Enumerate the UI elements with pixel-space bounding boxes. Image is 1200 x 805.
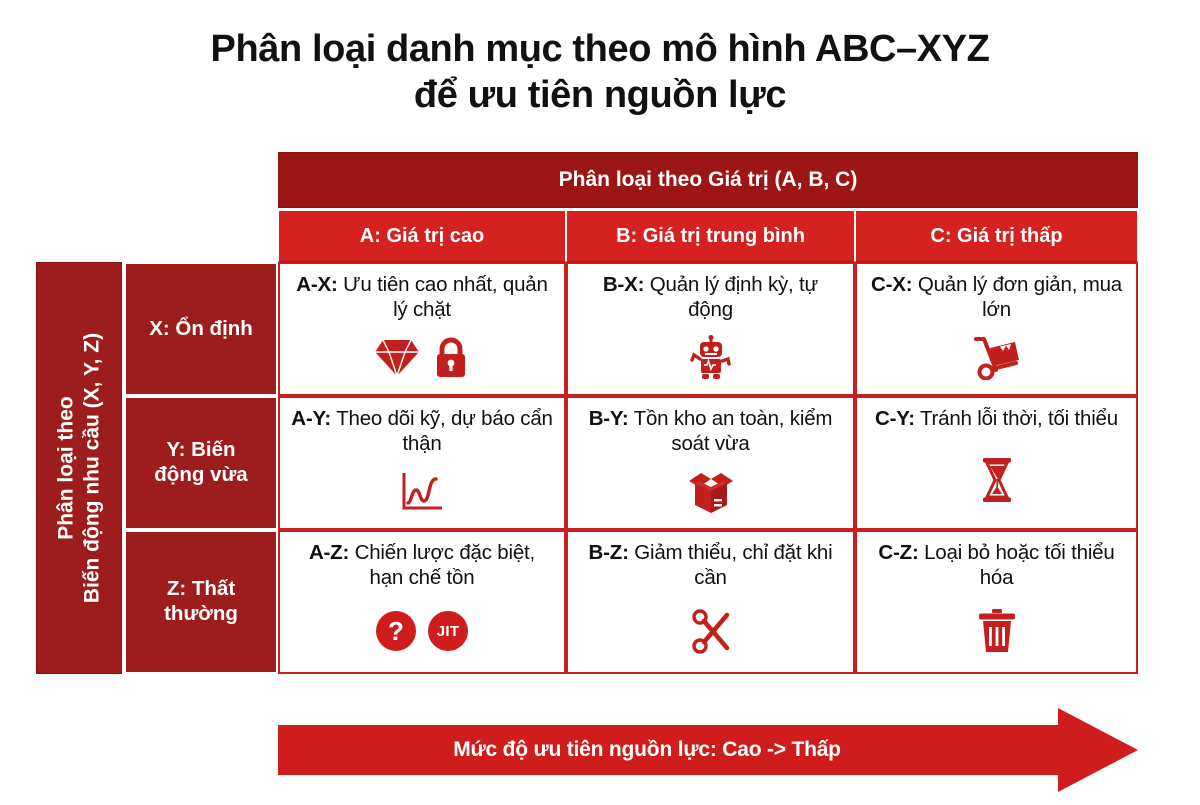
priority-arrow-head [1058, 708, 1138, 792]
cell-a-y[interactable]: A-Y: Theo dõi kỹ, dự báo cẩn thận [278, 396, 566, 530]
cell-c-z-code: C-Z: [878, 541, 918, 564]
demand-axis-label-line-2: Biến động nhu cầu (X, Y, Z) [79, 262, 105, 674]
cell-a-z-icons: ? JIT [376, 596, 468, 666]
cell-c-y-desc: Tránh lỗi thời, tối thiểu [915, 407, 1118, 430]
page-title-line-2: để ưu tiên nguồn lực [0, 72, 1200, 118]
cell-a-y-code: A-Y: [291, 407, 331, 430]
matrix-row-y: A-Y: Theo dõi kỹ, dự báo cẩn thận B-Y: T… [278, 396, 1138, 530]
lock-icon [432, 337, 470, 379]
cell-a-x-text: A-X: Ưu tiên cao nhất, quản lý chặt [290, 272, 554, 322]
row-header-x: X: Ổn định [124, 262, 278, 396]
cell-c-x-desc: Quản lý đơn giản, mua lớn [912, 273, 1122, 321]
cell-b-y-code: B-Y: [589, 407, 629, 430]
column-header-b-label: B: Giá trị trung bình [616, 225, 805, 248]
cell-a-y-icons [397, 462, 447, 522]
row-header-column: X: Ổn định Y: Biến động vừa Z: Thất thườ… [124, 262, 278, 674]
cell-a-z-text: A-Z: Chiến lược đặc biệt, hạn chế tồn [290, 540, 554, 590]
cell-c-y-code: C-Y: [875, 407, 915, 430]
cell-a-z-desc: Chiến lược đặc biệt, hạn chế tồn [349, 541, 535, 589]
cell-c-x-text: C-X: Quản lý đơn giản, mua lớn [867, 272, 1126, 322]
hand-truck-icon [970, 336, 1024, 380]
page-title: Phân loại danh mục theo mô hình ABC–XYZ … [0, 26, 1200, 119]
value-axis-header: Phân loại theo Giá trị (A, B, C) [278, 152, 1138, 208]
robot-icon [688, 335, 734, 381]
cell-c-z-text: C-Z: Loại bỏ hoặc tối thiểu hóa [867, 540, 1126, 590]
cell-b-y[interactable]: B-Y: Tồn kho an toàn, kiểm soát vừa [566, 396, 855, 530]
infographic-canvas: Phân loại danh mục theo mô hình ABC–XYZ … [0, 0, 1200, 805]
cell-a-z[interactable]: A-Z: Chiến lược đặc biệt, hạn chế tồn ? … [278, 530, 566, 674]
row-header-z-label: Z: Thất thường [164, 577, 238, 626]
page-title-line-1: Phân loại danh mục theo mô hình ABC–XYZ [0, 26, 1200, 72]
cell-b-y-desc: Tồn kho an toàn, kiểm soát vừa [629, 407, 833, 455]
column-header-a-label: A: Giá trị cao [360, 225, 484, 248]
cell-b-x-text: B-X: Quản lý định kỳ, tự động [578, 272, 843, 322]
cell-a-x[interactable]: A-X: Ưu tiên cao nhất, quản lý chặt [278, 262, 566, 396]
priority-arrow: Mức độ ưu tiên nguồn lực: Cao -> Thấp [278, 708, 1138, 792]
matrix-row-x: A-X: Ưu tiên cao nhất, quản lý chặt B-X:… [278, 262, 1138, 396]
cell-a-x-icons [374, 328, 470, 388]
cell-b-y-text: B-Y: Tồn kho an toàn, kiểm soát vừa [578, 406, 843, 456]
cell-a-x-desc: Ưu tiên cao nhất, quản lý chặt [338, 273, 548, 321]
matrix-row-z: A-Z: Chiến lược đặc biệt, hạn chế tồn ? … [278, 530, 1138, 674]
box-icon [685, 469, 737, 515]
question-badge: ? [376, 611, 416, 651]
cell-b-x[interactable]: B-X: Quản lý định kỳ, tự động [566, 262, 855, 396]
cell-a-z-code: A-Z: [309, 541, 349, 564]
line-chart-icon [397, 470, 447, 514]
cell-b-y-icons [685, 462, 737, 522]
row-header-y-line-2: động vừa [154, 463, 247, 486]
row-header-z-line-1: Z: Thất [167, 577, 235, 600]
value-axis-header-label: Phân loại theo Giá trị (A, B, C) [559, 168, 858, 192]
cell-b-x-desc: Quản lý định kỳ, tự động [644, 273, 818, 321]
cell-c-z-icons [976, 596, 1018, 666]
cell-c-y[interactable]: C-Y: Tránh lỗi thời, tối thiểu [855, 396, 1138, 530]
demand-axis-label-line-1: Phân loại theo [53, 262, 79, 674]
row-header-y-label: Y: Biến động vừa [154, 438, 247, 487]
cell-b-x-code: B-X: [603, 273, 644, 296]
cell-b-z-code: B-Z: [589, 541, 629, 564]
cell-c-y-text: C-Y: Tránh lỗi thời, tối thiểu [875, 406, 1118, 431]
priority-arrow-label: Mức độ ưu tiên nguồn lực: Cao -> Thấp [453, 738, 841, 762]
row-header-x-label: X: Ổn định [149, 317, 253, 342]
matrix-body: A-X: Ưu tiên cao nhất, quản lý chặt B-X:… [278, 262, 1138, 674]
cell-a-x-code: A-X: [296, 273, 337, 296]
column-header-c-label: C: Giá trị thấp [930, 225, 1062, 248]
row-header-z: Z: Thất thường [124, 530, 278, 674]
cell-b-z[interactable]: B-Z: Giảm thiểu, chỉ đặt khi cần [566, 530, 855, 674]
demand-axis-band: Phân loại theo Biến động nhu cầu (X, Y, … [36, 262, 122, 674]
column-header-a: A: Giá trị cao [278, 210, 566, 262]
cell-c-z[interactable]: C-Z: Loại bỏ hoặc tối thiểu hóa [855, 530, 1138, 674]
abc-xyz-matrix: Phân loại theo Giá trị (A, B, C) A: Giá … [278, 152, 1138, 674]
cell-a-y-text: A-Y: Theo dõi kỹ, dự báo cẩn thận [290, 406, 554, 456]
demand-axis-label: Phân loại theo Biến động nhu cầu (X, Y, … [53, 262, 104, 674]
row-header-y: Y: Biến động vừa [124, 396, 278, 530]
column-header-b: B: Giá trị trung bình [566, 210, 855, 262]
hourglass-icon [980, 457, 1014, 503]
trash-icon [976, 608, 1018, 654]
diamond-icon [374, 338, 420, 378]
column-header-c: C: Giá trị thấp [855, 210, 1138, 262]
cell-c-x[interactable]: C-X: Quản lý đơn giản, mua lớn [855, 262, 1138, 396]
cell-b-z-icons [689, 596, 733, 666]
cell-b-z-desc: Giảm thiểu, chỉ đặt khi cần [629, 541, 833, 589]
row-header-z-line-2: thường [164, 602, 238, 625]
priority-arrow-shaft: Mức độ ưu tiên nguồn lực: Cao -> Thấp [278, 725, 1060, 775]
scissors-icon [689, 608, 733, 654]
cell-b-x-icons [688, 328, 734, 388]
jit-badge: JIT [428, 611, 468, 651]
cell-c-y-icons [980, 437, 1014, 522]
row-header-y-line-1: Y: Biến [166, 438, 235, 461]
cell-b-z-text: B-Z: Giảm thiểu, chỉ đặt khi cần [578, 540, 843, 590]
cell-c-z-desc: Loại bỏ hoặc tối thiểu hóa [919, 541, 1115, 589]
value-column-header-row: A: Giá trị cao B: Giá trị trung bình C: … [278, 210, 1138, 262]
cell-c-x-icons [970, 328, 1024, 388]
cell-a-y-desc: Theo dõi kỹ, dự báo cẩn thận [331, 407, 553, 455]
cell-c-x-code: C-X: [871, 273, 912, 296]
